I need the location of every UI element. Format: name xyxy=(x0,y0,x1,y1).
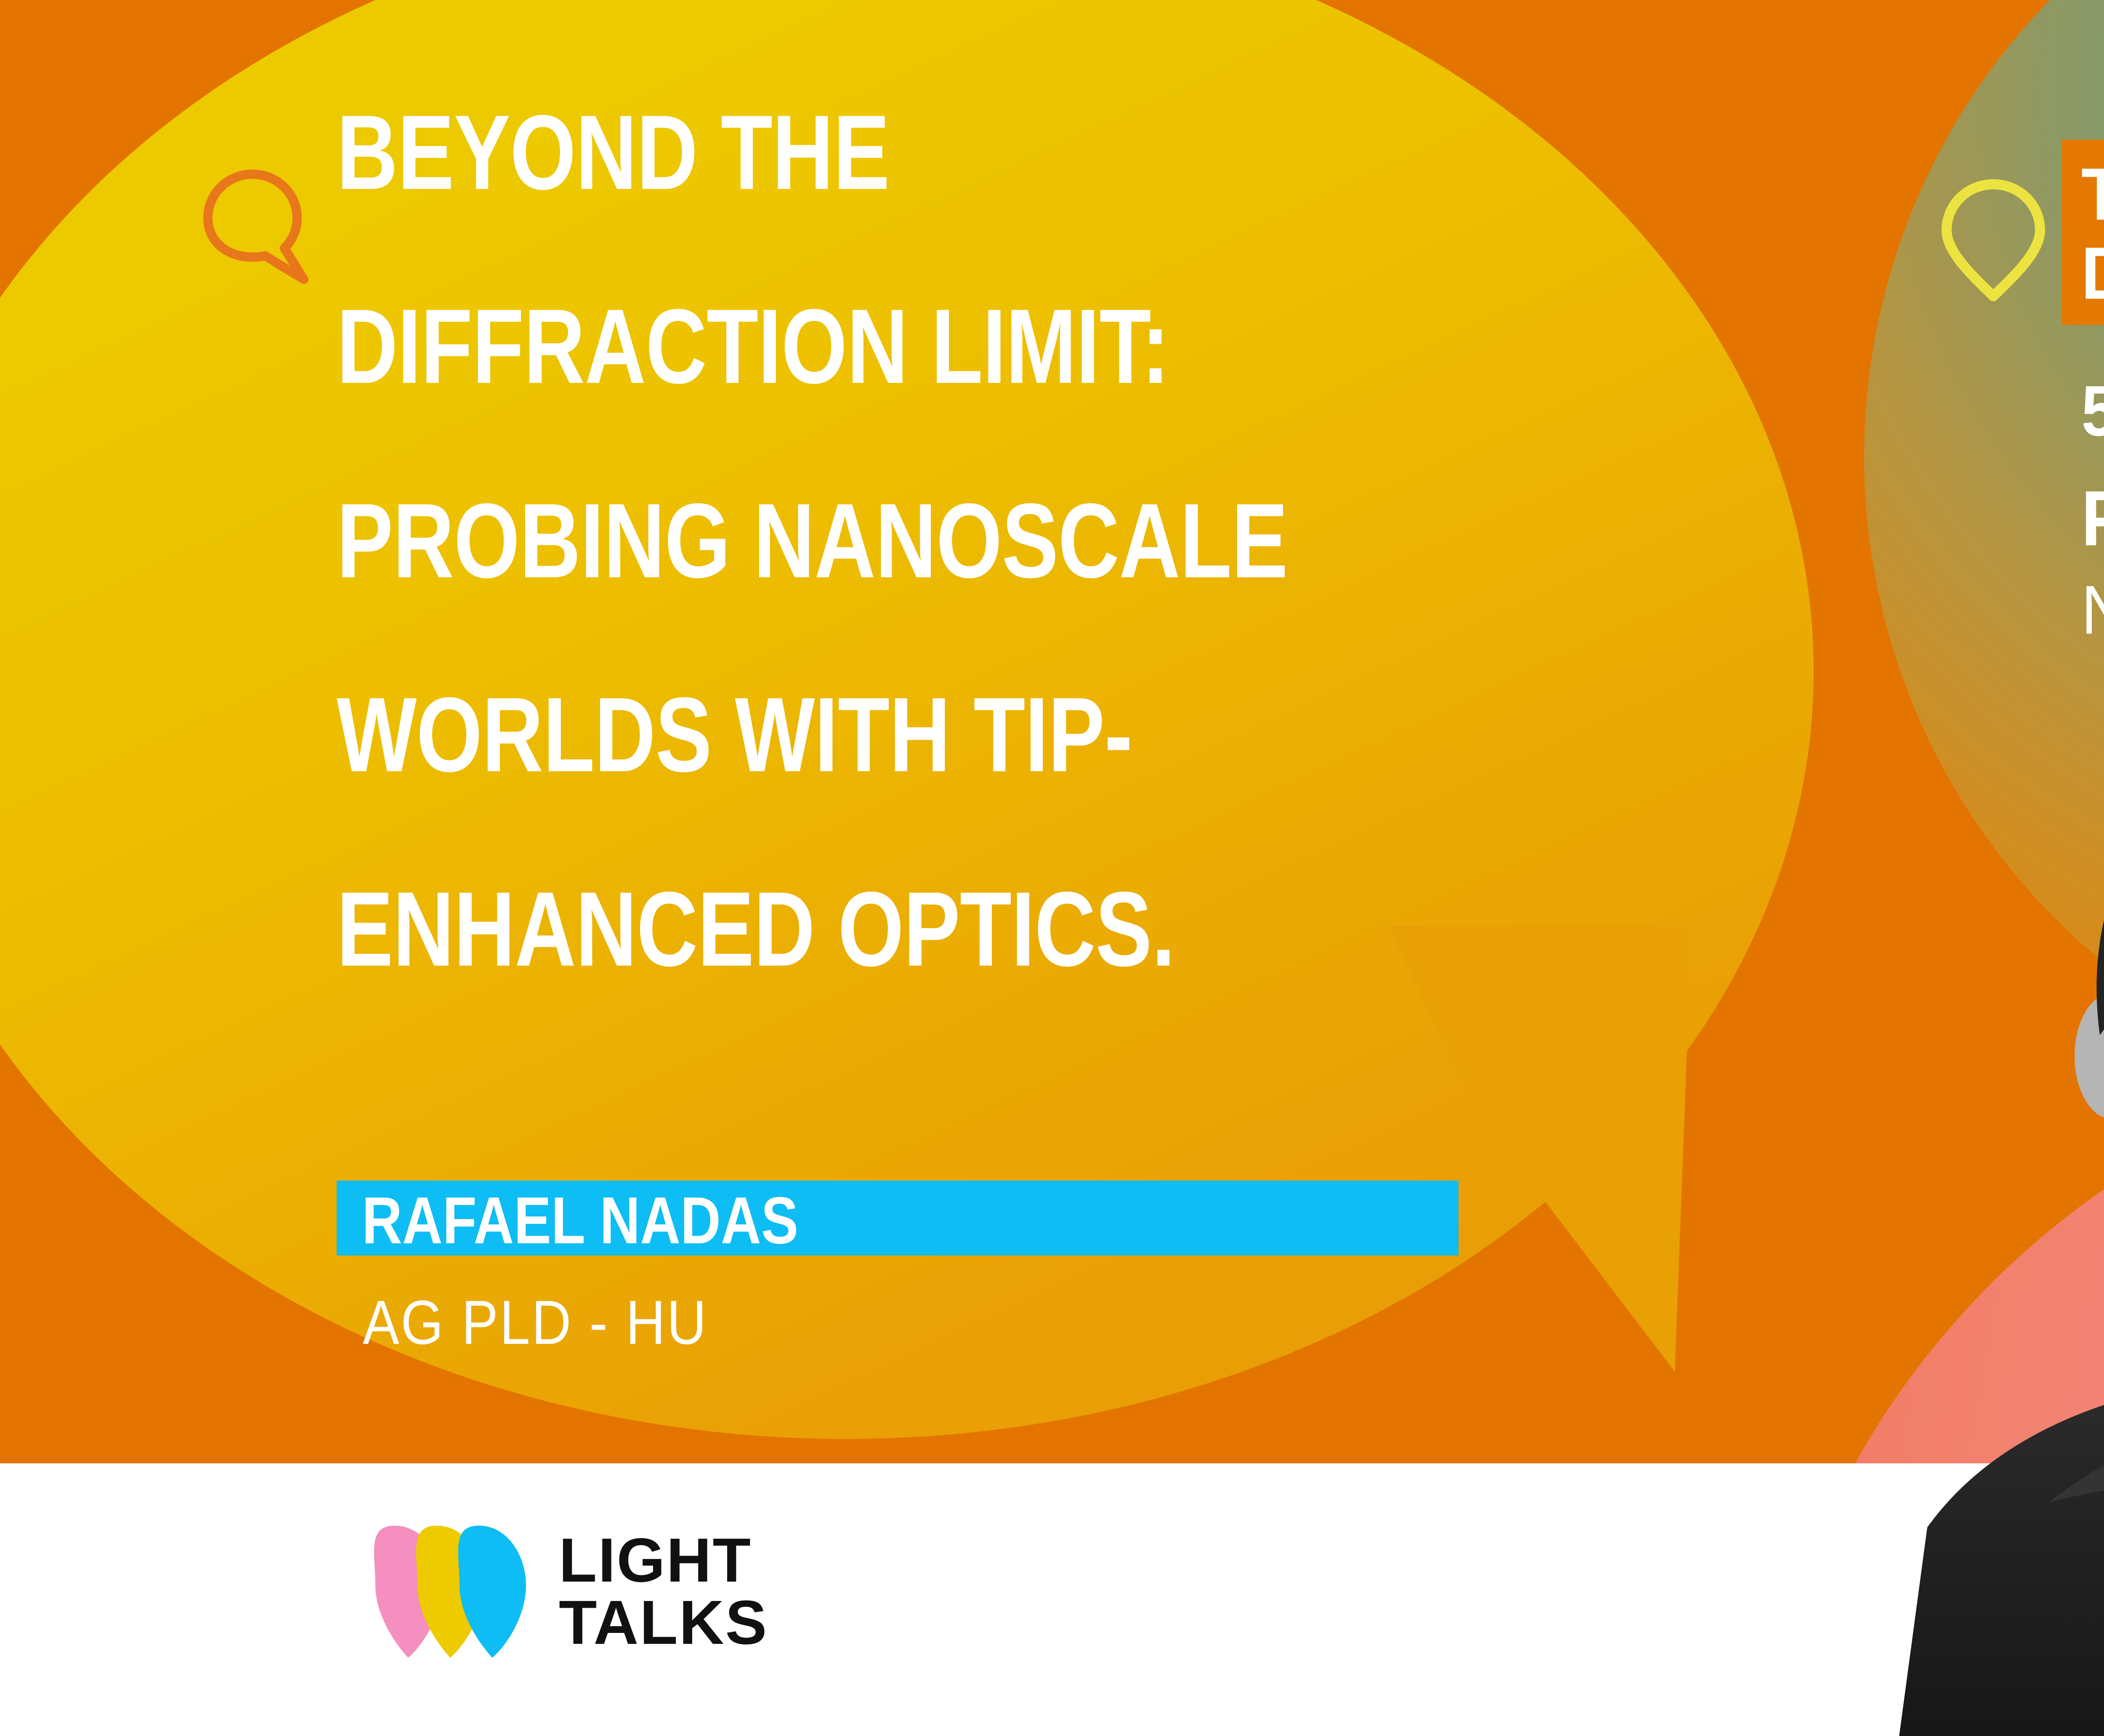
light-talks-petal-logo-icon xyxy=(353,1522,534,1661)
event-date: THURSDAY DECEMBER 12TH 2024 xyxy=(2081,155,2104,313)
page-title: BEYOND THE DIFFRACTION LIMIT: PROBING NA… xyxy=(337,100,1448,982)
logo-word-talks: TALKS xyxy=(559,1592,768,1654)
event-date-line: DECEMBER 12TH 2024 xyxy=(2081,234,2104,313)
event-address: NEWTONSTR. 15, 12489 / BERLIN xyxy=(2081,576,2104,645)
headline-line-3: PROBING NANOSCALE xyxy=(337,488,1448,593)
event-venue: PHYSIK INSTITUT, HU xyxy=(2081,480,2104,558)
event-weekday: THURSDAY xyxy=(2081,155,2104,234)
speaker-portrait xyxy=(1822,610,2104,1736)
light-talks-wordmark: LIGHT TALKS xyxy=(559,1529,768,1654)
headline-line-5: ENHANCED OPTICS. xyxy=(337,877,1448,982)
speaker-affiliation: AG PLD - HU xyxy=(363,1292,708,1354)
light-talks-logo: LIGHT TALKS xyxy=(353,1510,917,1674)
speech-bubble-icon xyxy=(201,167,315,287)
logo-word-light: LIGHT xyxy=(559,1529,768,1592)
event-poster: BEYOND THE DIFFRACTION LIMIT: PROBING NA… xyxy=(0,0,2104,1736)
speech-bubble-tail xyxy=(1389,926,1767,1431)
event-time-and-room: 5PM / 1'202 xyxy=(2081,375,2104,447)
headline-line-1: BEYOND THE xyxy=(337,100,1448,205)
map-pin-icon xyxy=(1937,174,2050,305)
speaker-name: RAFAEL NADAS xyxy=(362,1187,798,1254)
footer-white-band xyxy=(0,1463,2104,1736)
headline-line-2: DIFFRACTION LIMIT: xyxy=(337,294,1448,399)
headline-line-4: WORLDS WITH TIP- xyxy=(337,682,1448,787)
